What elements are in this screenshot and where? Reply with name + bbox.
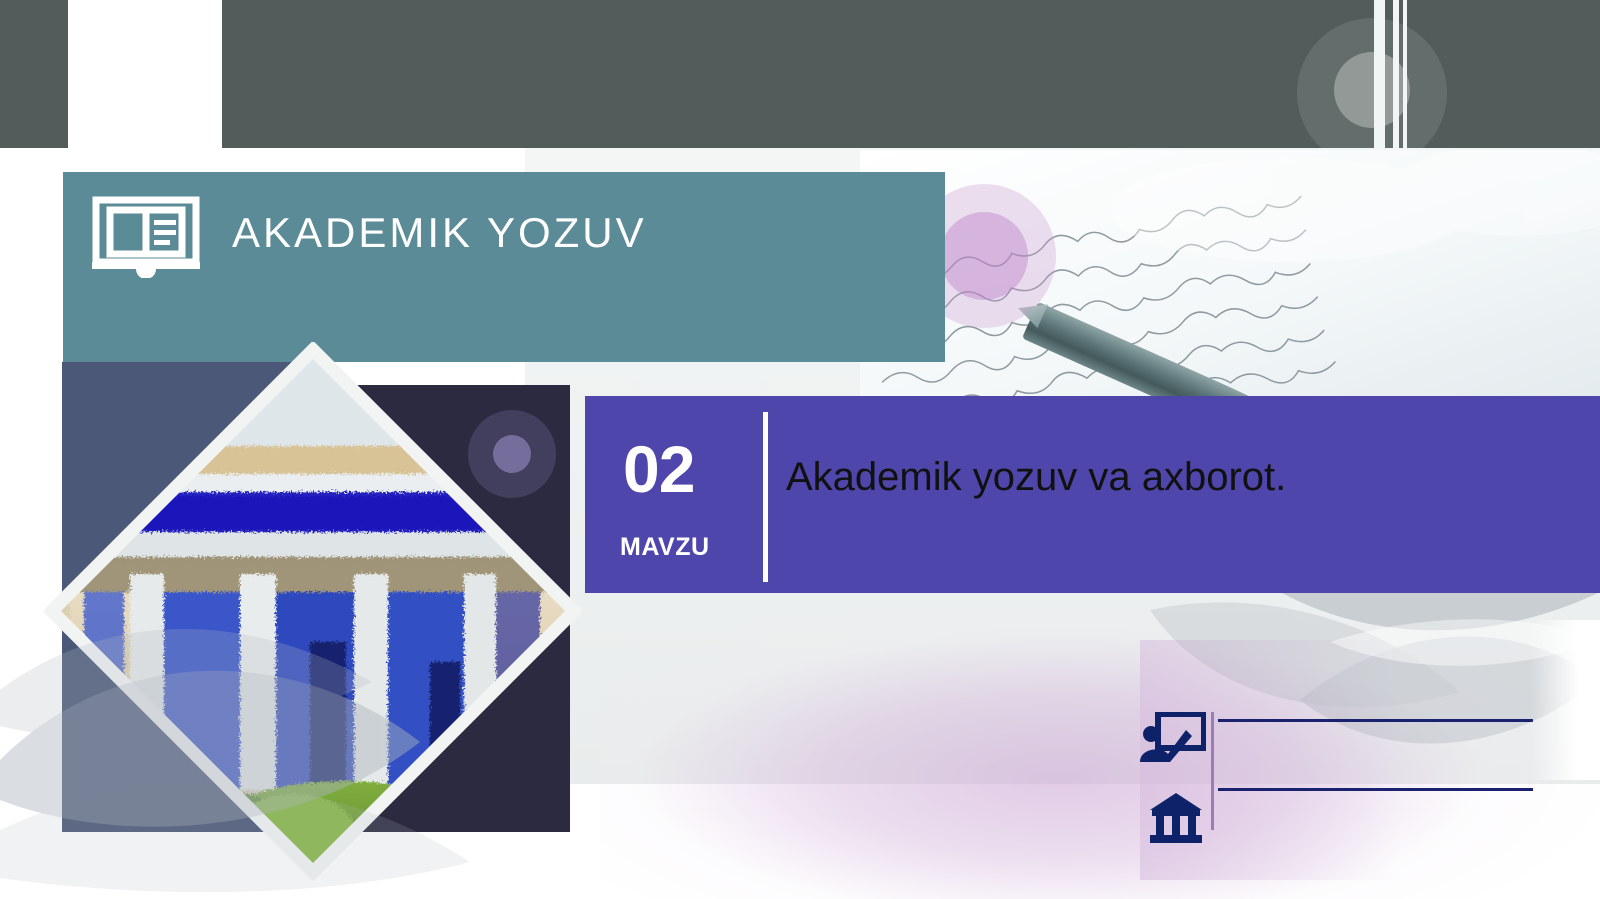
- top-band-stripe-1: [1374, 0, 1385, 148]
- handwriting-inner-circle: [940, 212, 1028, 300]
- diamond-photo-frame: [44, 342, 582, 880]
- topic-title: Akademik yozuv va axborot.: [786, 446, 1566, 508]
- footer-vertical-divider: [1211, 712, 1214, 830]
- top-band-stripe-2: [1393, 0, 1399, 148]
- topic-number: 02: [623, 432, 741, 506]
- bank-institution-icon: [1150, 793, 1202, 843]
- top-band-white-gap: [68, 0, 222, 148]
- bottom-right-white-fade: [1530, 620, 1600, 780]
- slide-canvas: AKADEMIK YOZUV: [0, 0, 1600, 899]
- top-band-stripe-3: [1403, 0, 1407, 148]
- page-title: AKADEMIK YOZUV: [232, 202, 892, 264]
- topic-number-label: MAVZU: [620, 532, 760, 562]
- presenter-whiteboard-icon: [1140, 712, 1206, 764]
- footer-line-1-text: [1218, 724, 1533, 782]
- footer-text-rule-2: [1218, 788, 1533, 791]
- open-book-icon: [92, 196, 200, 278]
- footer-text-rule-1: [1218, 719, 1533, 722]
- footer-line-2-text: [1218, 793, 1533, 833]
- topic-banner-divider: [763, 412, 768, 582]
